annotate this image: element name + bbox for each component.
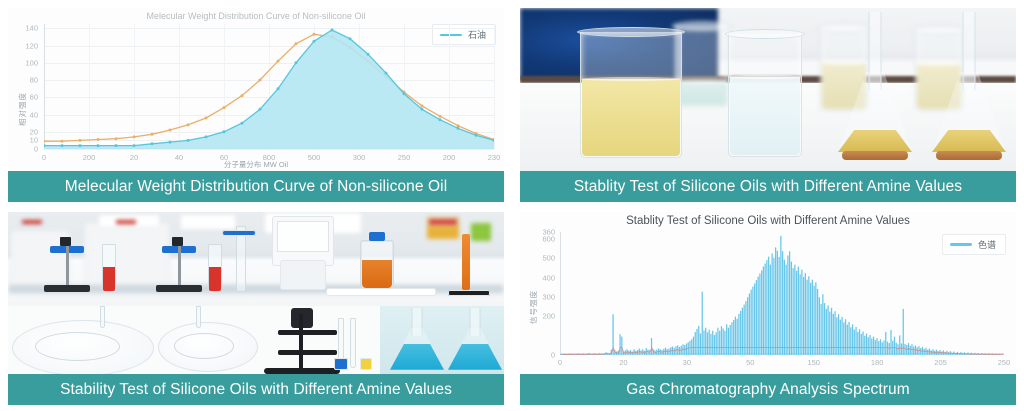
y-axis-tick: 100 [25,58,38,67]
panel-caption: Melecular Weight Distribution Curve of N… [8,171,504,202]
x-axis-tick: 0 [558,358,562,367]
spectrum-bar [812,279,813,354]
series-marker [79,144,82,147]
series-marker [79,139,82,142]
spectrum-bar [696,328,697,354]
series-marker [457,124,460,127]
bottle-liquid [362,260,392,288]
panel-beakers[interactable]: Stablity Test of Silicone Oils with Diff… [520,8,1016,202]
petri-swirl [35,332,120,361]
series-marker [169,141,172,144]
series-marker [241,94,244,97]
spectrum-bar [772,253,773,354]
chart-series-layer [560,232,1004,355]
spectrum-bar [843,322,844,355]
spectrum-bar [868,337,869,355]
volumetric-flask-2 [448,308,502,370]
spectrum-bar [862,331,863,354]
volumetric-flask-1 [390,308,444,370]
balance-plate [326,288,436,296]
series-marker [421,108,424,111]
beakers-photo [520,8,1016,171]
analyser-monitor [272,216,334,266]
gridline-vertical [494,24,495,149]
spectrum-bar [906,345,907,355]
spectrum-bar [847,324,848,354]
magnetic-stirrer-2 [156,246,202,292]
series-marker [187,139,190,142]
spectrum-bar [777,250,778,354]
x-axis-tick: 20 [130,153,138,162]
spectrum-bar [791,261,792,354]
spectrum-bar [910,345,911,354]
spectrum-bar [859,329,860,355]
spectrum-bar [716,332,717,355]
spectrum-bar [913,346,914,354]
spectrum-bar [792,268,793,355]
spectrum-bar [710,333,711,354]
series-marker [331,29,334,32]
flask-blue-liquid [390,344,444,370]
spectrum-bar [740,310,741,354]
y-axis-tick: 10 [30,136,38,145]
spectrum-bar [798,266,799,354]
yellow-stopper [360,358,372,370]
x-axis-tick: 300 [353,153,366,162]
flask-yellow-right [932,12,1006,160]
spectrum-bar [768,256,769,354]
beaker-yellow [580,32,682,158]
spectrum-bar [873,336,874,354]
spectrum-bar [698,325,699,354]
spectrum-bar [621,336,622,354]
series-marker [241,122,244,125]
y-axis-tick: 360 [542,227,555,236]
stirrer-block [60,237,71,246]
spectrum-bar [693,336,694,354]
petri-dish-1 [12,320,154,374]
series-marker [349,37,352,40]
series-marker [223,130,226,133]
series-marker [187,123,190,126]
spectrum-bar [719,330,720,354]
spectrum-bar [833,313,834,354]
x-axis-tick: 200 [83,153,96,162]
beakers-photo-body [520,8,1016,171]
spectrum-bar [878,341,879,355]
panel-caption: Gas Chromatography Analysis Spectrum [520,374,1016,405]
panel-gc-spectrum[interactable]: Stablity Test of Silicone Oils with Diff… [520,212,1016,406]
spectrum-bar [684,345,685,355]
series-marker [61,140,64,143]
spectrum-bar [779,256,780,354]
blue-stopper [334,358,348,370]
spectrum-bar [782,251,783,355]
panel-grid: Melecular Weight Distribution Curve of N… [0,0,1024,411]
spectrum-bar [871,338,872,355]
y-axis-tick: 120 [25,41,38,50]
spectrum-bar [829,311,830,354]
spectrum-bar [841,316,842,354]
molecular-weight-chart-body: Melecular Weight Distribution Curve of N… [8,8,504,171]
stand-base [264,368,340,374]
x-axis-tick: 180 [871,358,884,367]
stand-arm-upper [278,330,337,335]
spectrum-bar [723,328,724,355]
series-marker [97,138,100,141]
stirrer-post [66,246,69,285]
burette-2 [350,318,356,368]
beaker-rim [577,27,685,37]
spectrum-bar [749,293,750,355]
spectrum-bar [826,308,827,354]
spectrum-bar [855,326,856,354]
series-marker [61,144,64,147]
series-marker [367,53,370,56]
spectrum-bar [897,344,898,355]
y-axis-tick: 200 [542,312,555,321]
reagent-bottle [360,240,394,290]
spectrum-bar [786,264,787,354]
series-marker [97,144,100,147]
series-marker [313,40,316,43]
spectrum-bar [758,276,759,354]
dropper-1 [100,306,105,328]
spectrum-bar [747,297,748,355]
gc-spectrum-chart-body: Stablity Test of Silicone Oils with Diff… [520,212,1016,375]
spectrum-bar [901,343,902,355]
y-axis-tick: 0 [551,350,555,359]
series-marker [403,92,406,95]
spectrum-bar [700,333,701,355]
series-marker [277,87,280,90]
spectrum-bar [805,273,806,355]
spectrum-bar [848,321,849,354]
x-axis-tick: 60 [220,153,228,162]
chart-series-layer [44,24,494,149]
spectrum-bar [737,318,738,354]
spectrum-bar [806,279,807,354]
chart-title: Melecular Weight Distribution Curve of N… [8,11,504,21]
x-axis-tick: 20 [619,358,627,367]
beaker-liquid [582,79,680,157]
spectrum-bar [789,251,790,355]
spectrum-bar [864,335,865,354]
spectrum-bar [703,330,704,355]
spectrum-bar [735,316,736,354]
spectrum-bar [889,343,890,355]
spectrum-bar [707,332,708,355]
series-area [44,30,494,149]
spectrum-bar [765,263,766,354]
x-axis-tick: 800 [263,153,276,162]
spectrum-bar [801,269,802,354]
spectrum-bar [876,338,877,355]
panel-molecular-weight[interactable]: Melecular Weight Distribution Curve of N… [8,8,504,202]
gridline-horizontal [44,149,494,150]
flask-base [842,151,907,160]
y-axis-tick: 140 [25,24,38,33]
y-axis-tick: 300 [542,292,555,301]
spectrum-bar [899,335,900,355]
stand-rod [299,314,303,368]
series-marker [259,79,262,82]
x-axis-tick: 230 [488,153,501,162]
sample-tube-1 [102,244,116,292]
spectrum-bar [808,276,809,355]
spectrum-bar [751,289,752,354]
series-marker [439,115,442,118]
spectrum-bar [890,330,891,355]
bench-equipment [8,212,504,306]
series-marker [151,142,154,145]
x-axis-tick: 150 [807,358,820,367]
series-marker [421,104,424,107]
spectrum-bar [857,331,858,354]
spectrum-bar [728,327,729,354]
series-marker [115,144,118,147]
lab-bench-photo [8,212,504,375]
sample-tube-2 [208,244,222,292]
series-marker [259,108,262,111]
panel-caption: Stability Test of Silicone Oils with Dif… [8,374,504,405]
spectrum-bar [803,276,804,354]
spectrum-bar [845,319,846,355]
lower-photo-strip [8,306,504,374]
bottle-cap [369,232,385,241]
spectrum-bar [894,336,895,354]
orange-column [462,234,470,290]
molecular-weight-chart[interactable]: Melecular Weight Distribution Curve of N… [8,8,504,171]
y-axis-tick: 500 [542,254,555,263]
series-marker [205,117,208,120]
dropper-2 [196,306,201,328]
y-axis-tick: 40 [30,110,38,119]
series-marker [439,118,442,121]
x-axis-tick: 250 [398,153,411,162]
panel-caption: Stablity Test of Silicone Oils with Diff… [520,171,1016,202]
series-marker [223,106,226,109]
spectrum-bar [836,317,837,355]
spectrum-bar [819,297,820,355]
spectrum-bar [869,335,870,355]
spectrum-bar [852,324,853,355]
series-marker [133,135,136,138]
test-stand [264,308,340,374]
series-marker [169,129,172,132]
series-marker [277,60,280,63]
spectrum-bar [651,338,652,355]
chart-plot-area: 0102040608010012014002002040608005003002… [44,24,494,149]
chart-plot-area: 02003004005006003600203050150180205250 [560,232,1004,355]
blue-clamp [222,230,256,236]
spectrum-bar [866,333,867,355]
spectrum-bar [815,282,816,355]
spectrum-bar [775,247,776,355]
spectrum-bar [784,259,785,354]
spectrum-bar [695,331,696,354]
spectrum-bar [705,327,706,354]
spectrum-bar [619,334,620,355]
beaker-rim [725,29,805,39]
chart-title: Stablity Test of Silicone Oils with Diff… [520,215,1016,227]
spectrum-bar [861,333,862,354]
chart-y-axis-label: 信号强度 [528,290,539,324]
flask-yellow-left [838,12,912,160]
stand-arm-lower [278,350,337,355]
spectrum-bar [731,322,732,355]
spectrum-bar [752,286,753,354]
y-axis-tick: 600 [542,235,555,244]
spectrum-bar [773,257,774,354]
series-marker [295,61,298,64]
spectrum-bar [721,326,722,355]
spectrum-bar [726,324,727,355]
tube-liquid [103,267,115,291]
spectrum-bar [714,335,715,355]
y-axis-tick: 0 [34,145,38,154]
gc-spectrum-chart[interactable]: Stablity Test of Silicone Oils with Diff… [520,212,1016,375]
spectrum-bar [840,319,841,354]
y-axis-tick: 60 [30,93,38,102]
analyser-body [280,260,326,290]
lab-bench-photo-body [8,212,504,375]
spectrum-bar [817,288,818,354]
spectrum-bar [787,255,788,355]
spectrum-bar [763,266,764,354]
spectrum-bar [838,314,839,355]
magnetic-stirrer-1 [44,246,90,292]
spectrum-bar [810,282,811,354]
monitor-screen [277,221,329,252]
spectrum-bar [887,341,888,354]
spectrum-bar [854,329,855,354]
x-axis-tick: 205 [934,358,947,367]
spectrum-bar [712,330,713,354]
beaker-clear [728,34,802,157]
series-marker [457,127,460,130]
beaker-liquid [730,77,800,155]
series-marker [151,133,154,136]
spectrum-bar [738,313,739,354]
y-axis-tick: 20 [30,127,38,136]
series-marker [205,135,208,138]
spectrum-bar [709,329,710,354]
spectrum-bar [761,270,762,355]
spectrum-bar [702,291,703,354]
spectrum-bar [756,280,757,355]
series-marker [313,33,316,36]
series-marker [475,134,478,137]
series-marker [115,137,118,140]
spectrum-bar [850,327,851,355]
spectrum-bar [796,270,797,354]
spectrum-bar [780,235,781,354]
stirrer-plate [44,285,90,292]
series-marker [44,140,46,143]
spectrum-bar [730,325,731,355]
x-axis-tick: 30 [683,358,691,367]
spectrum-bar [799,274,800,355]
petri-dish-2 [158,322,258,372]
spectrum-bar [882,342,883,355]
spectrum-bar [885,331,886,354]
spectrum-bar [794,264,795,354]
spectrum-bar [759,273,760,354]
spectrum-bar [880,339,881,355]
x-axis-tick: 250 [998,358,1011,367]
series-marker [133,144,136,147]
spectrum-bar [834,311,835,355]
x-axis-tick: 200 [443,153,456,162]
y-axis-tick: 400 [542,273,555,282]
spectrum-bar [896,342,897,354]
chart-x-axis-label: 分子量分布 MW Oil [224,159,288,170]
chart-y-axis-label: 相对强度 [17,92,28,126]
spectrum-bar [766,260,767,355]
spectrum-bar [813,285,814,354]
x-axis-tick: 50 [746,358,754,367]
spectrum-bar [745,301,746,355]
spectrum-bar [724,330,725,354]
foreground-glassware [520,8,1016,171]
series-marker [295,42,298,45]
spectrum-bar [717,327,718,354]
column-stand [448,290,490,296]
spectrum-bar [754,283,755,354]
spectrum-bar [733,320,734,355]
panel-lab-bench[interactable]: Stability Test of Silicone Oils with Dif… [8,212,504,406]
y-axis-tick: 80 [30,76,38,85]
spectrum-bar [691,339,692,355]
x-axis-tick: 40 [175,153,183,162]
x-axis-tick: 0 [42,153,46,162]
series-marker [385,72,388,75]
spectrum-bar [770,264,771,354]
x-axis-tick: 500 [308,153,321,162]
spectrum-bar [822,294,823,355]
